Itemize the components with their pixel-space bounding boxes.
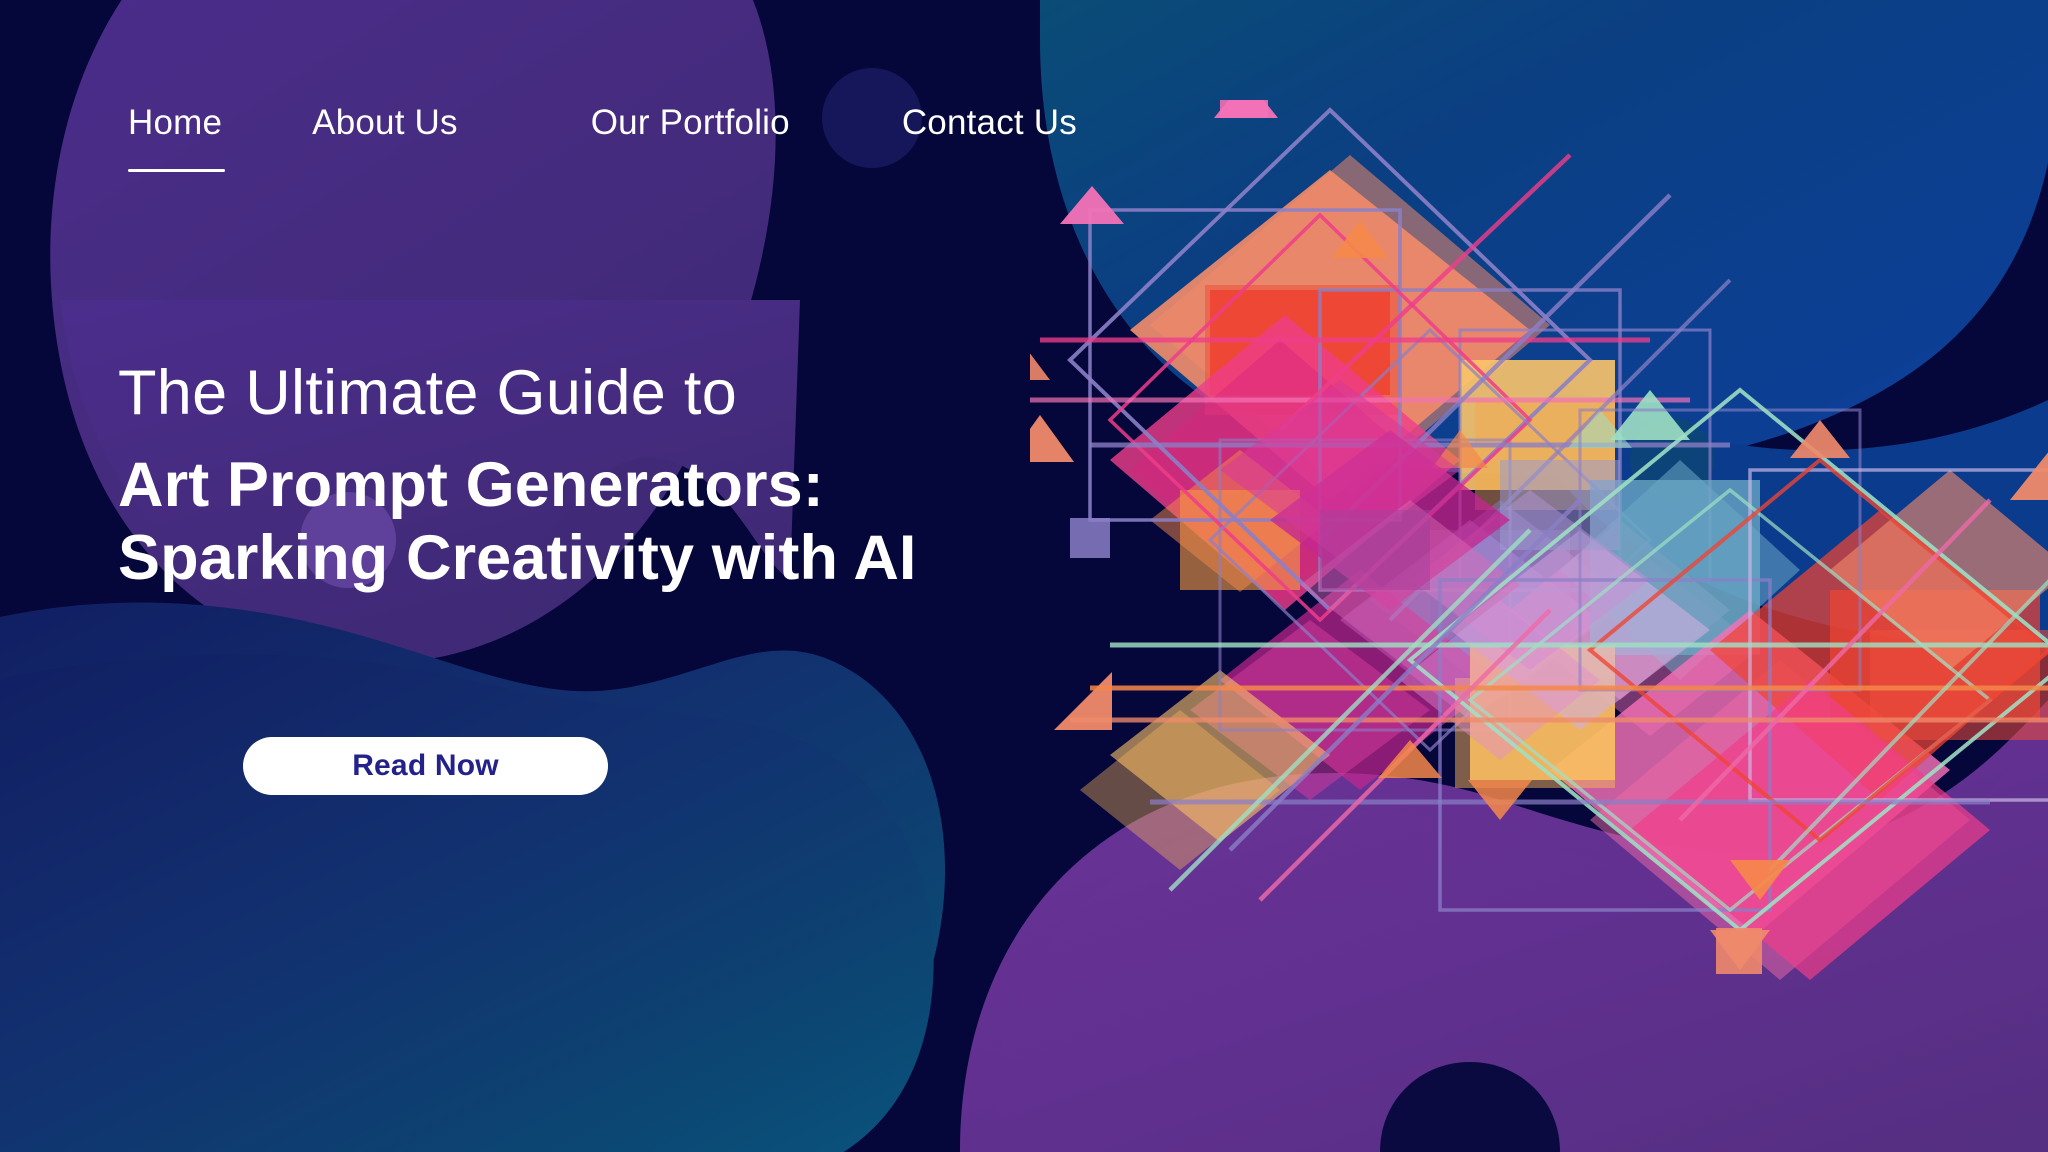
read-now-button[interactable]: Read Now bbox=[243, 737, 608, 795]
hero-title-line-1: Art Prompt Generators: bbox=[118, 449, 1118, 522]
hero-page: Home About Us Our Portfolio Contact Us T… bbox=[0, 0, 2048, 1152]
hero-subtitle: The Ultimate Guide to bbox=[118, 360, 1118, 427]
main-navigation: Home About Us Our Portfolio Contact Us bbox=[128, 105, 1077, 148]
nav-item-contact-us[interactable]: Contact Us bbox=[902, 105, 1077, 148]
abstract-geometric-artwork bbox=[1030, 100, 2048, 1100]
nav-item-our-portfolio[interactable]: Our Portfolio bbox=[591, 105, 790, 148]
hero-heading-group: The Ultimate Guide to Art Prompt Generat… bbox=[118, 360, 1118, 595]
hero-title-line-2: Sparking Creativity with AI bbox=[118, 522, 1118, 595]
nav-item-home[interactable]: Home bbox=[128, 105, 222, 148]
nav-item-about-us[interactable]: About Us bbox=[312, 105, 458, 148]
